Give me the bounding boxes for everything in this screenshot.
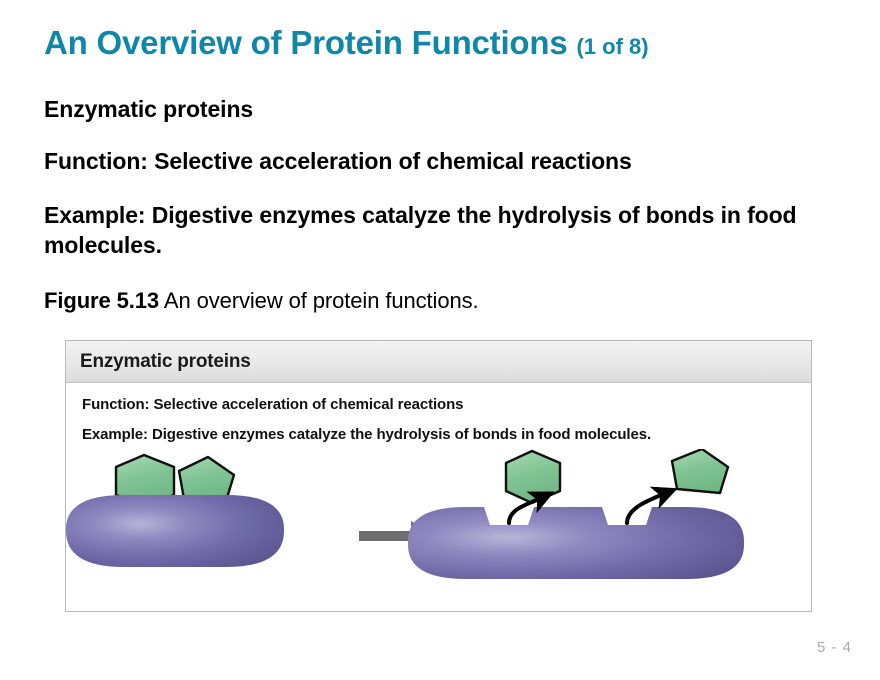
- figure-panel-header-title: Enzymatic proteins: [80, 351, 251, 373]
- enzyme-body-right: [408, 507, 744, 579]
- figure-caption-label: Figure 5.13: [44, 288, 159, 313]
- figure-panel-body: Function: Selective acceleration of chem…: [66, 383, 811, 445]
- substrate-hexagon-right: [506, 451, 560, 503]
- figure-line-function: Function: Selective acceleration of chem…: [82, 394, 795, 415]
- figure-panel-header: Enzymatic proteins: [66, 341, 811, 383]
- enzyme-left-group: [66, 455, 284, 567]
- enzyme-body-left: [66, 495, 284, 567]
- substrate-pentagon-right: [672, 449, 728, 493]
- figure-caption: Figure 5.13 An overview of protein funct…: [44, 288, 824, 314]
- page-title-main: An Overview of Protein Functions: [44, 24, 568, 61]
- body-line-function: Function: Selective acceleration of chem…: [44, 146, 844, 176]
- body-line-enzymatic-proteins: Enzymatic proteins: [44, 94, 744, 124]
- enzyme-diagram: [66, 449, 811, 611]
- page-title-counter: (1 of 8): [576, 34, 648, 59]
- body-line-example: Example: Digestive enzymes catalyze the …: [44, 200, 839, 260]
- figure-caption-description: An overview of protein functions.: [164, 288, 479, 313]
- figure-panel: Enzymatic proteins Function: Selective a…: [65, 340, 812, 612]
- page-title: An Overview of Protein Functions (1 of 8…: [44, 24, 844, 62]
- substrate-pentagon-left: [179, 457, 234, 501]
- enzyme-right-group: [408, 449, 744, 579]
- page-number: 5 - 4: [817, 639, 852, 656]
- figure-line-example: Example: Digestive enzymes catalyze the …: [82, 424, 782, 445]
